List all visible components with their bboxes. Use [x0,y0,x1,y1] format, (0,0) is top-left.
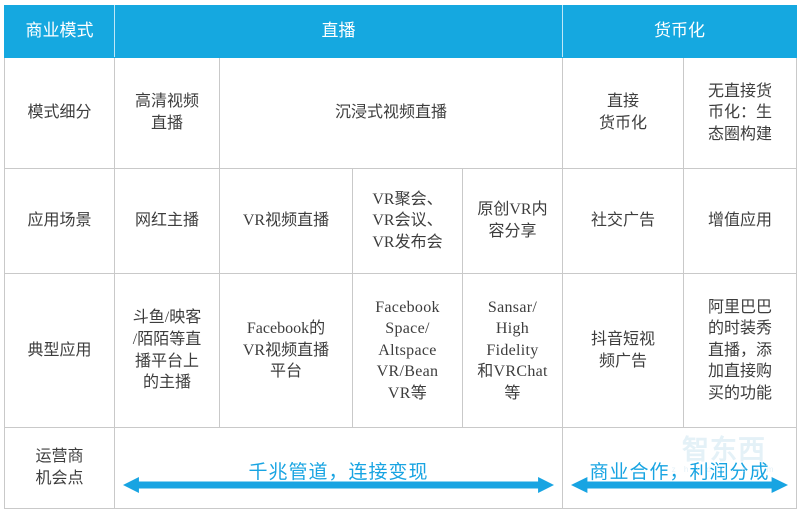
cell-scene-original-vr-content: 原创VR内 容分享 [463,169,563,274]
row-label-typical-application: 典型应用 [5,274,115,428]
cell-app-facebook-vr-platform: Facebook的 VR视频直播 平台 [220,274,353,428]
row-label-mode-segmentation: 模式细分 [5,58,115,169]
table-header-row: 商业模式 直播 货币化 [5,6,797,58]
cell-scene-influencer-host: 网红主播 [115,169,220,274]
cell-scene-value-added-apps: 增值应用 [684,169,797,274]
table-row-opportunity: 运营商 机会点 千兆管道，连接变现 商业合作，利润分成 [5,428,797,509]
cell-app-facebook-space-altspace: Facebook Space/ Altspace VR/Bean VR等 [353,274,463,428]
cell-app-alibaba-fashion-show: 阿里巴巴 的时装秀 直播，添 加直接购 买的功能 [684,274,797,428]
cell-scene-vr-video-live: VR视频直播 [220,169,353,274]
opportunity-cell-gigabit-pipeline: 千兆管道，连接变现 [115,428,563,509]
cell-app-sansar-high-fidelity: Sansar/ High Fidelity 和VRChat 等 [463,274,563,428]
row-label-application-scenario: 应用场景 [5,169,115,274]
table-row: 应用场景 网红主播 VR视频直播 VR聚会、 VR会议、 VR发布会 原创VR内… [5,169,797,274]
business-model-table: 商业模式 直播 货币化 模式细分 高清视频 直播 沉浸式视频直播 直接 货币化 … [4,5,797,509]
row-label-operator-opportunity: 运营商 机会点 [5,428,115,509]
business-model-table-container: 商业模式 直播 货币化 模式细分 高清视频 直播 沉浸式视频直播 直接 货币化 … [0,0,800,489]
double-arrow-icon [123,476,554,494]
double-arrow-icon [571,476,788,494]
table-row: 模式细分 高清视频 直播 沉浸式视频直播 直接 货币化 无直接货 币化：生 态圈… [5,58,797,169]
cell-scene-vr-gathering: VR聚会、 VR会议、 VR发布会 [353,169,463,274]
header-cell-business-model: 商业模式 [5,6,115,58]
opportunity-cell-business-cooperation: 商业合作，利润分成 [563,428,797,509]
cell-mode-direct-monetization: 直接 货币化 [563,58,684,169]
cell-app-douyu-inke-momo: 斗鱼/映客 /陌陌等直 播平台上 的主播 [115,274,220,428]
cell-mode-immersive-video-live: 沉浸式视频直播 [220,58,563,169]
cell-scene-social-ads: 社交广告 [563,169,684,274]
header-cell-monetization: 货币化 [563,6,797,58]
cell-app-douyin-short-video-ads: 抖音短视 频广告 [563,274,684,428]
table-row: 典型应用 斗鱼/映客 /陌陌等直 播平台上 的主播 Facebook的 VR视频… [5,274,797,428]
cell-mode-hd-video-live: 高清视频 直播 [115,58,220,169]
cell-mode-no-direct-monetization: 无直接货 币化：生 态圈构建 [684,58,797,169]
header-cell-live-streaming: 直播 [115,6,563,58]
